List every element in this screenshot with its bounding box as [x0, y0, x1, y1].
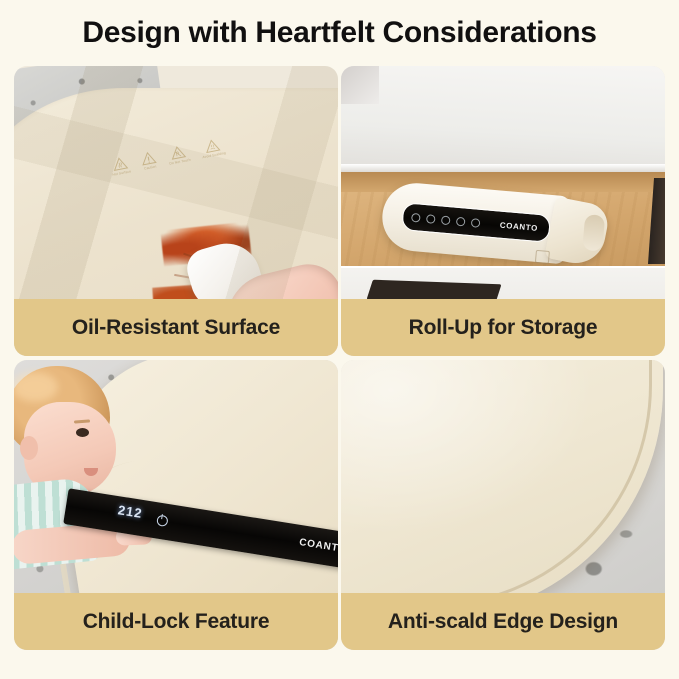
countertop-slab [341, 66, 665, 168]
feature-card-grid: Hot Surface Caution [14, 66, 665, 666]
feature-card-child-lock-feature[interactable]: 212 COANTO Child-Lock Feature [14, 360, 338, 650]
caption-child-lock-feature: Child-Lock Feature [14, 593, 338, 650]
caption-oil-resistant-surface: Oil-Resistant Surface [14, 299, 338, 356]
feature-card-anti-scald-edge-design[interactable]: Anti-scald Edge Design [341, 360, 665, 650]
caption-roll-up-for-storage: Roll-Up for Storage [341, 299, 665, 356]
mat-fastener-tab [535, 250, 550, 264]
page-title: Design with Heartfelt Considerations [0, 16, 679, 50]
brand-logo: COANTO [500, 220, 539, 232]
power-icon[interactable] [156, 514, 169, 527]
temperature-icon[interactable] [426, 214, 436, 224]
temperature-display: 212 [117, 502, 144, 521]
warning-label: Caution [140, 150, 158, 170]
toddler-ear [20, 436, 38, 460]
infographic-page: Design with Heartfelt Considerations Hot… [0, 0, 679, 679]
warning-label: Hot Surface [109, 156, 131, 177]
lock-icon[interactable] [456, 216, 466, 226]
countertop-corner [341, 66, 379, 104]
timer-icon[interactable] [441, 215, 451, 225]
control-panel-buttons[interactable] [411, 212, 481, 227]
toddler-eye [76, 428, 89, 437]
feature-card-roll-up-for-storage[interactable]: COANTO Roll-Up for Storage [341, 66, 665, 356]
power-icon[interactable] [411, 212, 421, 222]
feature-card-oil-resistant-surface[interactable]: Hot Surface Caution [14, 66, 338, 356]
brand-logo: COANTO [298, 537, 338, 555]
mode-icon[interactable] [471, 218, 481, 228]
caption-anti-scald-edge-design: Anti-scald Edge Design [341, 593, 665, 650]
